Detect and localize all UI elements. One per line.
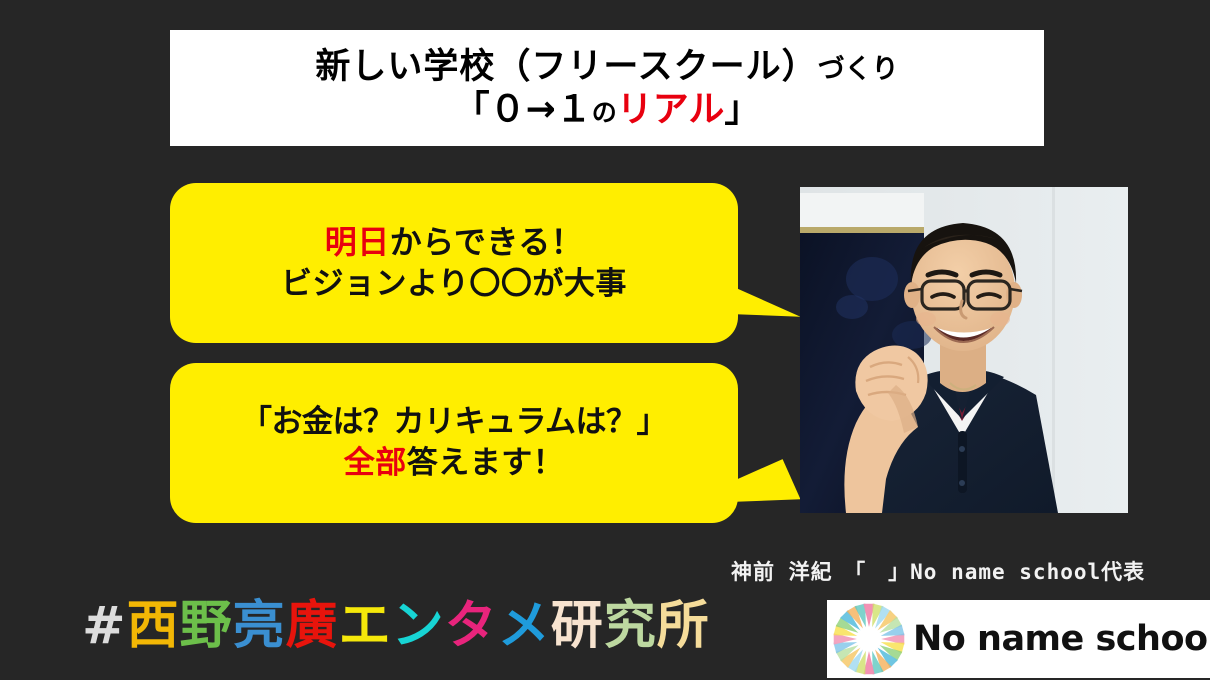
bubble-tomorrow-line-2: ビジョンより〇〇が大事	[281, 264, 627, 305]
pinwheel-starburst-icon	[831, 601, 907, 677]
bubble-answers-accent: 全部	[344, 445, 407, 481]
title-line-2-accent: リアル	[617, 89, 725, 130]
hashtag-char-0: #	[82, 600, 127, 652]
hashtag-char-4: 廣	[286, 600, 339, 652]
no-name-school-logo-text: No name school	[913, 619, 1210, 659]
hashtag-salon-logo: #西野亮廣エンタメ研究所	[82, 600, 710, 652]
bubble-answers-line-2: 全部答えます！	[344, 443, 565, 484]
bubble-tomorrow-accent: 明日	[325, 223, 390, 261]
title-box: 新しい学校（フリースクール）づくり 「０→１のリアル」	[170, 30, 1044, 146]
hashtag-char-2: 野	[180, 600, 233, 652]
hashtag-char-11: 所	[657, 600, 710, 652]
hashtag-char-6: ン	[392, 600, 445, 652]
hashtag-char-7: タ	[445, 600, 498, 652]
bubble-tomorrow: 明日からできる！ ビジョンより〇〇が大事	[170, 183, 738, 343]
hashtag-char-5: エ	[339, 600, 392, 652]
hashtag-char-3: 亮	[233, 600, 286, 652]
title-line-1-main: 新しい学校（フリースクール）	[315, 47, 817, 87]
bubble-answers: 「お金は？カリキュラムは？」 全部答えます！	[170, 363, 738, 523]
bubble-tomorrow-line-1: 明日からできる！	[325, 221, 583, 263]
hashtag-char-8: メ	[498, 600, 551, 652]
title-line-2: 「０→１のリアル」	[454, 89, 761, 130]
title-line-1-suffix: づくり	[818, 54, 899, 85]
hashtag-char-9: 研	[551, 600, 604, 652]
title-line-2-small: の	[592, 98, 617, 127]
bubble-answers-line-2-rest: 答えます！	[407, 445, 565, 481]
no-name-school-logo: No name school	[827, 600, 1210, 678]
speaker-caption: 神前 洋紀 「 」No name school代表	[731, 556, 1145, 586]
title-line-1: 新しい学校（フリースクール）づくり	[315, 48, 898, 87]
bubble-tomorrow-line-1-rest: からできる！	[390, 223, 583, 261]
slide-canvas: 新しい学校（フリースクール）づくり 「０→１のリアル」 明日からできる！ ビジョ…	[0, 0, 1210, 680]
hashtag-char-1: 西	[127, 600, 180, 652]
speaker-photo	[800, 187, 1128, 513]
hashtag-char-10: 究	[604, 600, 657, 652]
title-line-2-suffix: 」	[724, 89, 760, 130]
title-line-2-prefix: 「０→１	[454, 89, 592, 130]
bubble-answers-line-1: 「お金は？カリキュラムは？」	[241, 402, 667, 443]
